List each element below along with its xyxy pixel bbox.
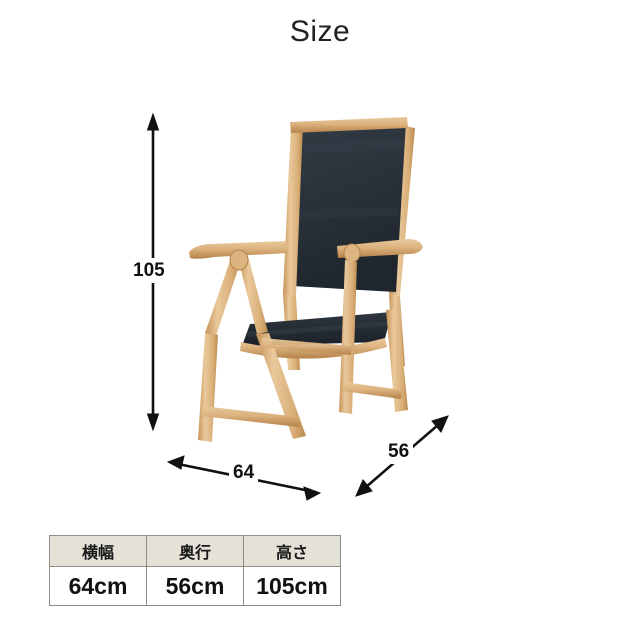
spec-value-depth: 56cm — [147, 567, 244, 606]
dimension-label-width: 64 — [229, 460, 258, 485]
chair-front-left-leg — [198, 333, 218, 442]
spec-header-height: 高さ — [244, 536, 341, 567]
width-arrow-head-left — [168, 456, 184, 469]
spec-table-value-row: 64cm 56cm 105cm — [50, 567, 341, 606]
dimension-label-height: 105 — [131, 258, 167, 283]
chair-graphic — [189, 117, 423, 442]
height-arrow-head-bottom — [148, 414, 159, 430]
width-arrow-head-right — [304, 487, 320, 500]
dimension-label-depth: 56 — [384, 439, 413, 464]
height-arrow-head-top — [148, 114, 159, 130]
chair-left-pivot-knob — [230, 250, 248, 270]
spec-header-width: 横幅 — [50, 536, 147, 567]
chair-illustration-svg — [0, 70, 640, 520]
spec-table-header-row: 横幅 奥行 高さ — [50, 536, 341, 567]
size-spec-table: 横幅 奥行 高さ 64cm 56cm 105cm — [49, 535, 341, 606]
chair-right-pivot-knob — [344, 244, 360, 262]
spec-value-width: 64cm — [50, 567, 147, 606]
page-title: Size — [0, 12, 640, 52]
spec-header-depth: 奥行 — [147, 536, 244, 567]
spec-value-height: 105cm — [244, 567, 341, 606]
product-size-diagram: 105 64 56 — [0, 70, 640, 520]
